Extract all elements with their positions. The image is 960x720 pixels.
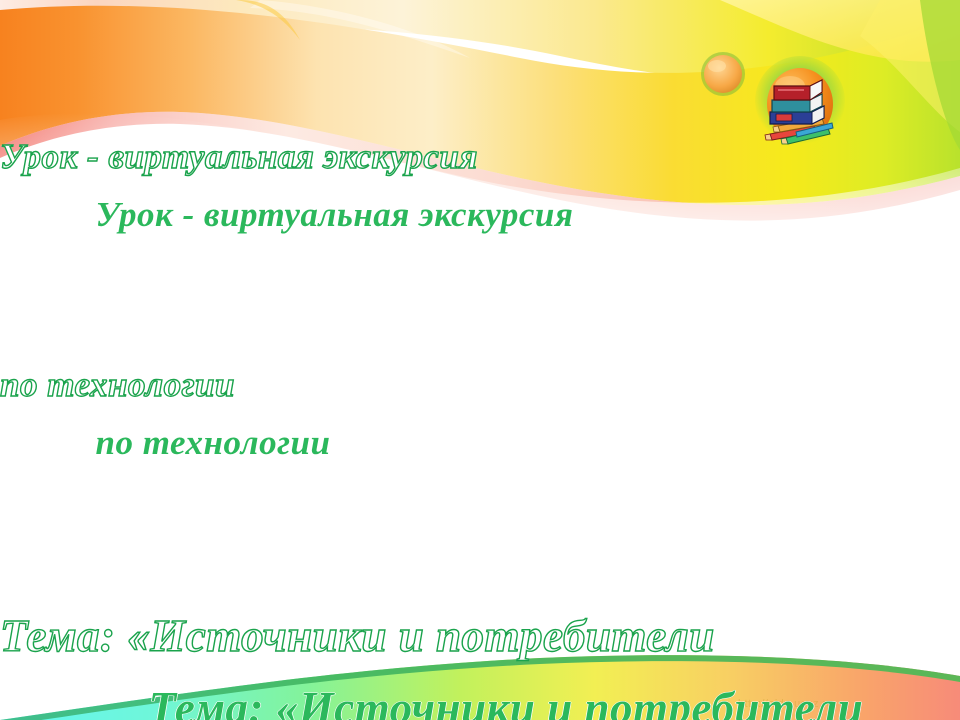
subtitle-line-2: по технологии по технологии xyxy=(0,356,960,588)
subtitle-line-1: Урок - виртуальная экскурсия Урок - вирт… xyxy=(0,128,960,360)
subtitle-line-1-outline: Урок - виртуальная экскурсия xyxy=(0,128,960,186)
subtitle-line-2-outline: по технологии xyxy=(0,356,960,414)
decorative-bubble xyxy=(701,52,745,96)
books-icon xyxy=(770,80,824,124)
subtitle-line-1-fill: Урок - виртуальная экскурсия xyxy=(96,195,574,234)
slide-title-block: Урок - виртуальная экскурсия Урок - вирт… xyxy=(0,128,960,720)
subtitle-line-2-fill: по технологии xyxy=(96,423,331,462)
title-line-1-outline: Тема: «Источники и потребители xyxy=(0,600,960,672)
title-line-1: Тема: «Источники и потребители Тема: «Ис… xyxy=(0,600,960,720)
title-line-1-fill: Тема: «Источники и потребители xyxy=(149,683,864,720)
slide-canvas: Урок - виртуальная экскурсия Урок - вирт… xyxy=(0,0,960,720)
